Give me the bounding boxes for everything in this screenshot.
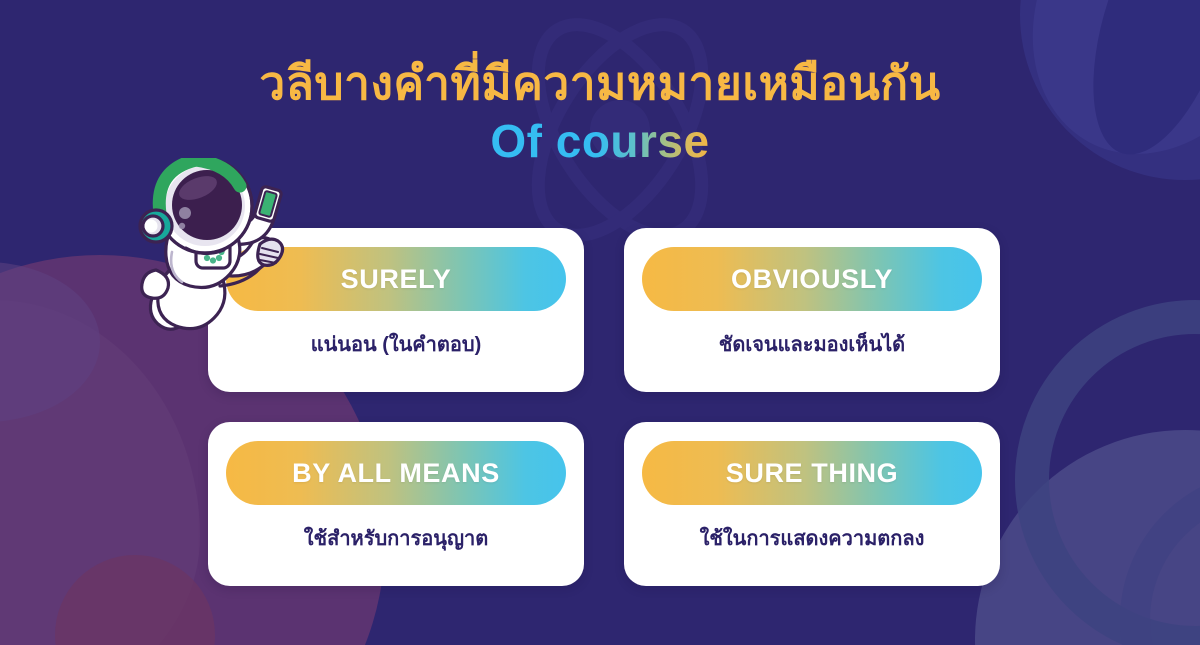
- term-description: ชัดเจนและมองเห็นได้: [719, 333, 905, 358]
- term-label: SURE THING: [726, 458, 899, 489]
- term-description: ใช้ในการแสดงความตกลง: [700, 527, 925, 552]
- header: วลีบางคำที่มีความหมายเหมือนกัน Of course: [0, 58, 1200, 167]
- synonym-card[interactable]: BY ALL MEANS ใช้สำหรับการอนุญาต: [208, 422, 584, 586]
- term-pill[interactable]: SURE THING: [642, 441, 982, 505]
- synonym-card-grid: SURELY แน่นอน (ในคำตอบ) OBVIOUSLY ชัดเจน…: [208, 228, 1000, 586]
- planet-bottom-right-ring-icon: [1015, 300, 1200, 645]
- astronaut-mascot-icon: [112, 158, 302, 348]
- planet-bottom-right-icon: [975, 430, 1200, 645]
- term-label: BY ALL MEANS: [292, 458, 500, 489]
- planet-left-spot-icon: [0, 262, 100, 422]
- term-label: SURELY: [341, 264, 452, 295]
- planet-bottom-left-icon: [55, 555, 215, 645]
- term-description: ใช้สำหรับการอนุญาต: [304, 527, 488, 552]
- term-pill[interactable]: BY ALL MEANS: [226, 441, 566, 505]
- synonym-card[interactable]: SURE THING ใช้ในการแสดงความตกลง: [624, 422, 1000, 586]
- page-title-english: Of course: [490, 115, 709, 168]
- page-title-thai: วลีบางคำที่มีความหมายเหมือนกัน: [0, 58, 1200, 109]
- term-label: OBVIOUSLY: [731, 264, 893, 295]
- synonym-card[interactable]: OBVIOUSLY ชัดเจนและมองเห็นได้: [624, 228, 1000, 392]
- term-description: แน่นอน (ในคำตอบ): [311, 333, 482, 358]
- poster-canvas: วลีบางคำที่มีความหมายเหมือนกัน Of course…: [0, 0, 1200, 645]
- planet-left-blob-icon: [0, 300, 200, 645]
- term-pill[interactable]: OBVIOUSLY: [642, 247, 982, 311]
- planet-bottom-right-ring2-icon: [1120, 470, 1200, 645]
